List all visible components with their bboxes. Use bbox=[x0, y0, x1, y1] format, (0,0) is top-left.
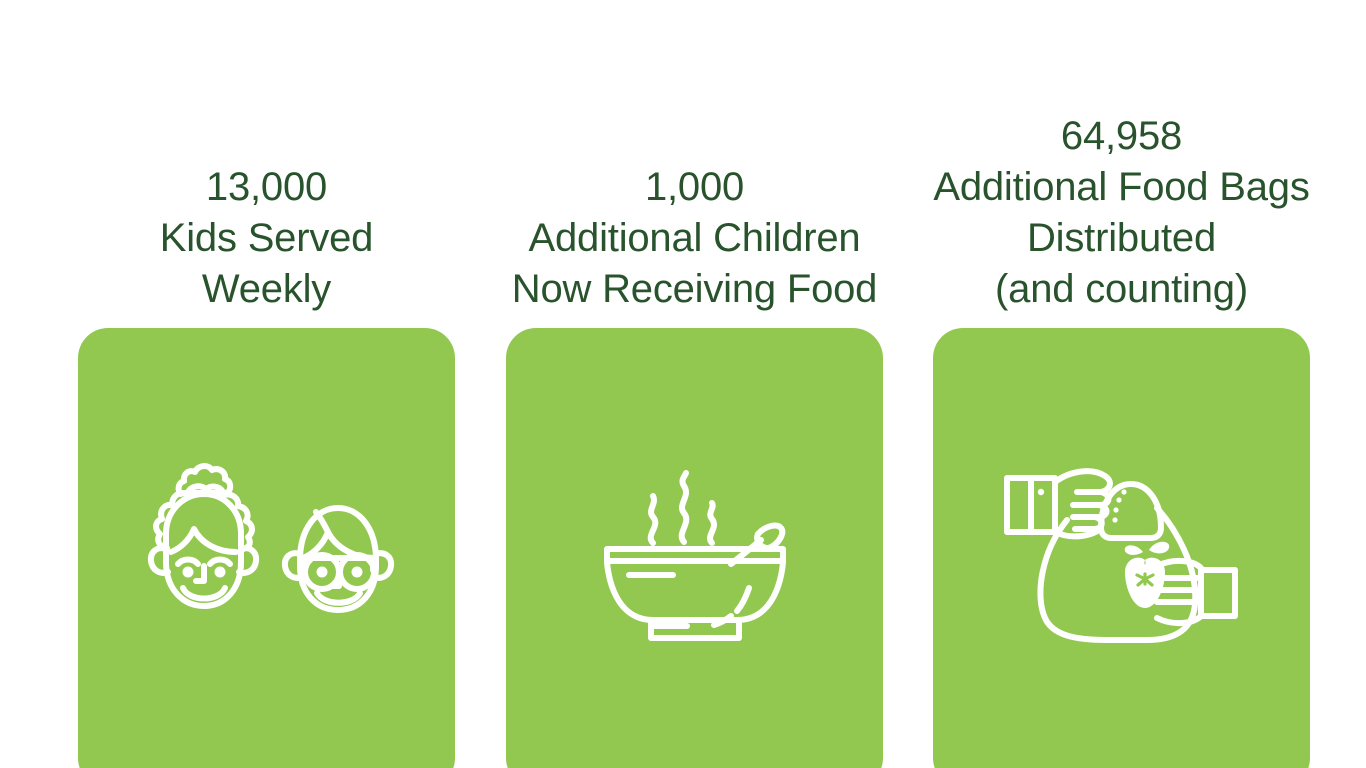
stat-caption: 64,958 Additional Food Bags Distributed … bbox=[893, 111, 1350, 315]
hands-passing-food-bag-icon bbox=[933, 328, 1310, 768]
stat-value: 1,000 bbox=[466, 162, 923, 213]
stat-label-line-1: Kids Served bbox=[38, 213, 495, 264]
stat-columns: 13,000 Kids Served Weekly bbox=[0, 0, 1366, 768]
steaming-bowl-icon bbox=[506, 328, 883, 768]
stat-card bbox=[78, 328, 455, 768]
stat-value: 13,000 bbox=[38, 162, 495, 213]
stat-label-line-1: Additional Children bbox=[466, 213, 923, 264]
two-children-faces-icon bbox=[78, 328, 455, 768]
infographic-stage: 13,000 Kids Served Weekly bbox=[0, 0, 1366, 768]
stat-label-line-2: Weekly bbox=[38, 264, 495, 315]
stat-card bbox=[506, 328, 883, 768]
stat-column-additional-children: 1,000 Additional Children Now Receiving … bbox=[506, 0, 883, 768]
stat-label-line-1: Additional Food Bags bbox=[893, 162, 1350, 213]
stat-caption: 13,000 Kids Served Weekly bbox=[38, 162, 495, 315]
stat-card bbox=[933, 328, 1310, 768]
stat-caption: 1,000 Additional Children Now Receiving … bbox=[466, 162, 923, 315]
stat-value: 64,958 bbox=[893, 111, 1350, 162]
stat-label-line-3: (and counting) bbox=[893, 264, 1350, 315]
stat-label-line-2: Now Receiving Food bbox=[466, 264, 923, 315]
stat-column-food-bags: 64,958 Additional Food Bags Distributed … bbox=[933, 0, 1310, 768]
stat-column-kids-served: 13,000 Kids Served Weekly bbox=[78, 0, 455, 768]
stat-label-line-2: Distributed bbox=[893, 213, 1350, 264]
